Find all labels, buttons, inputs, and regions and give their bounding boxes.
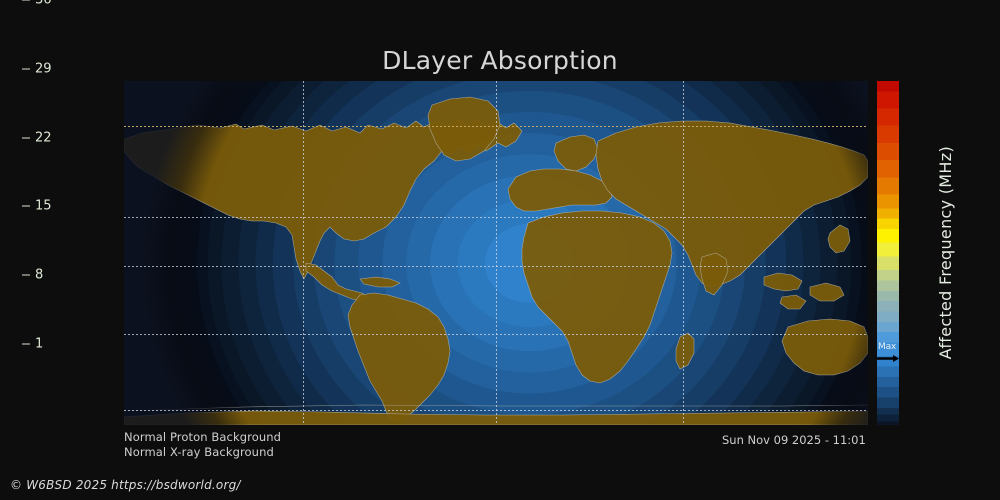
gridline-lon-0: [496, 81, 497, 425]
proton-status: Normal Proton Background: [124, 430, 281, 444]
colorbar-tick-8: 8: [22, 269, 43, 282]
colorbar-gradient: [877, 81, 899, 425]
colorbar-axis-label-text: Affected Frequency (MHz): [936, 146, 955, 359]
xray-status: Normal X-ray Background: [124, 445, 274, 459]
colorbar-tick-label: 8: [35, 269, 43, 282]
colorbar[interactable]: [877, 81, 899, 425]
colorbar-tick-1: 1: [22, 338, 43, 351]
tick-dash-icon: [22, 137, 30, 138]
gridline-lon-90W: [303, 81, 304, 425]
colorbar-tick-29: 29: [22, 62, 52, 75]
colorbar-tick-15: 15: [22, 200, 52, 213]
graticule: [124, 81, 868, 425]
colorbar-tick-label: 36: [35, 0, 52, 7]
colorbar-tick-36: 36: [22, 0, 52, 7]
copyright-credit: © W6BSD 2025 https://bsdworld.org/: [10, 478, 241, 492]
colorbar-tick-label: 15: [35, 200, 52, 213]
world-map[interactable]: [124, 81, 868, 425]
colorbar-tick-22: 22: [22, 131, 52, 144]
colorbar-tick-label: 22: [35, 131, 52, 144]
gridline-lon-90E: [683, 81, 684, 425]
colorbar-tick-label: 29: [35, 62, 52, 75]
colorbar-tick-label: 1: [35, 338, 43, 351]
colorbar-axis-label: Affected Frequency (MHz): [930, 81, 960, 425]
tick-dash-icon: [22, 275, 30, 276]
tick-dash-icon: [22, 0, 30, 1]
page-title: DLayer Absorption: [0, 46, 1000, 75]
tick-dash-icon: [22, 206, 30, 207]
timestamp: Sun Nov 09 2025 - 11:01: [722, 433, 866, 447]
dlayer-absorption-page: DLayer Absorption: [0, 0, 1000, 500]
colorbar-ticks: 36 29 22 15 8 1: [22, 0, 82, 344]
tick-dash-icon: [22, 344, 30, 345]
tick-dash-icon: [22, 68, 30, 69]
